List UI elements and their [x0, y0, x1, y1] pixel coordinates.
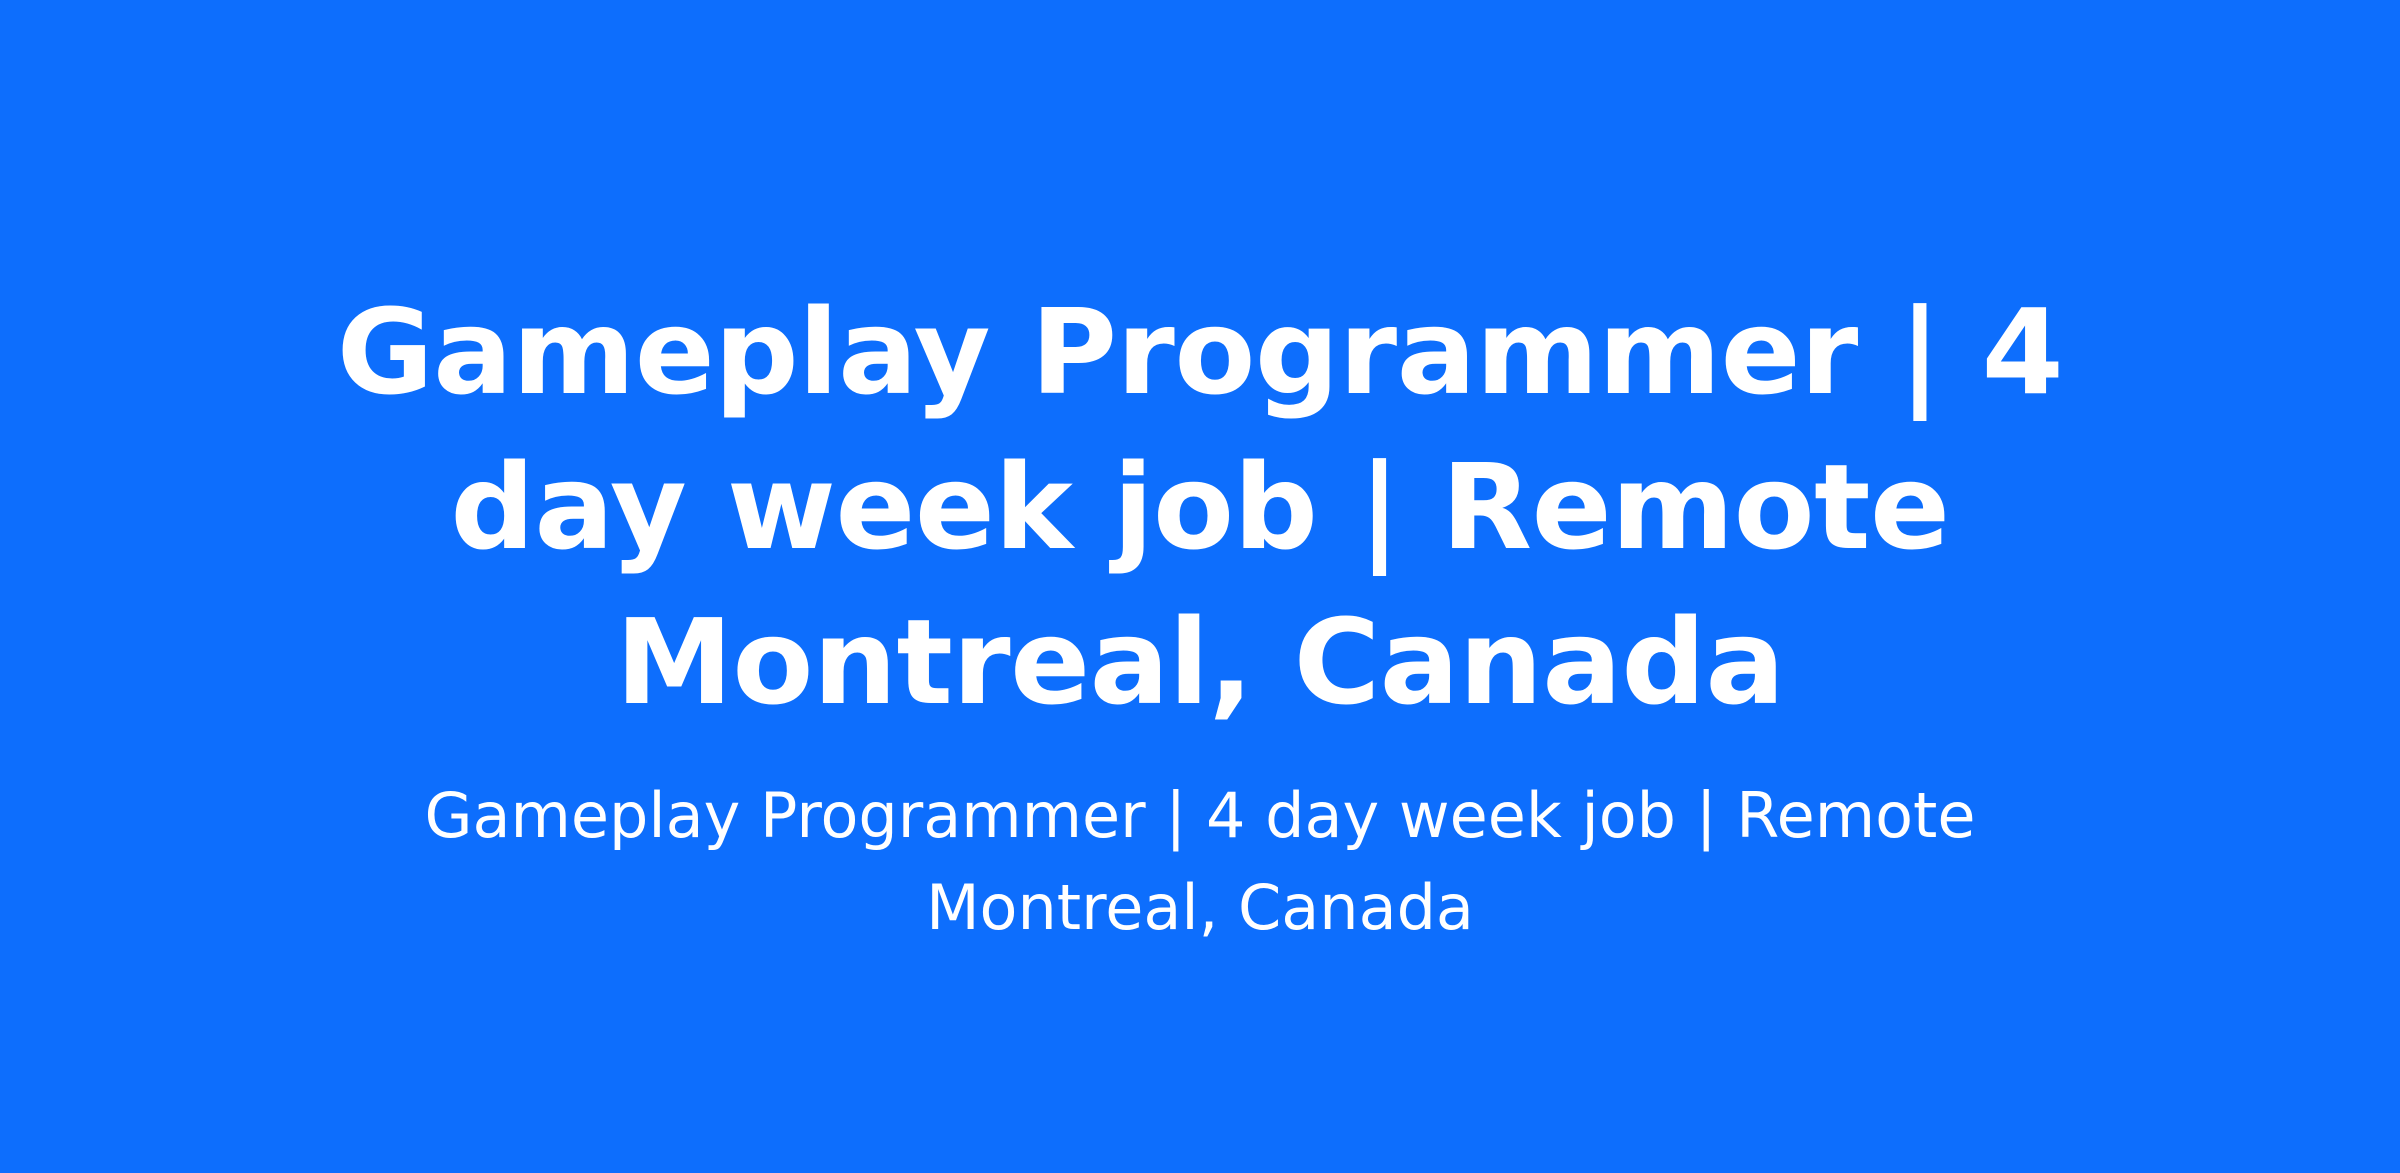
card-content: Gameplay Programmer | 4 day week job | R… [285, 275, 2115, 954]
share-card: Gameplay Programmer | 4 day week job | R… [0, 0, 2400, 1173]
page-subtitle: Gameplay Programmer | 4 day week job | R… [420, 740, 1980, 954]
page-title: Gameplay Programmer | 4 day week job | R… [285, 275, 2115, 740]
